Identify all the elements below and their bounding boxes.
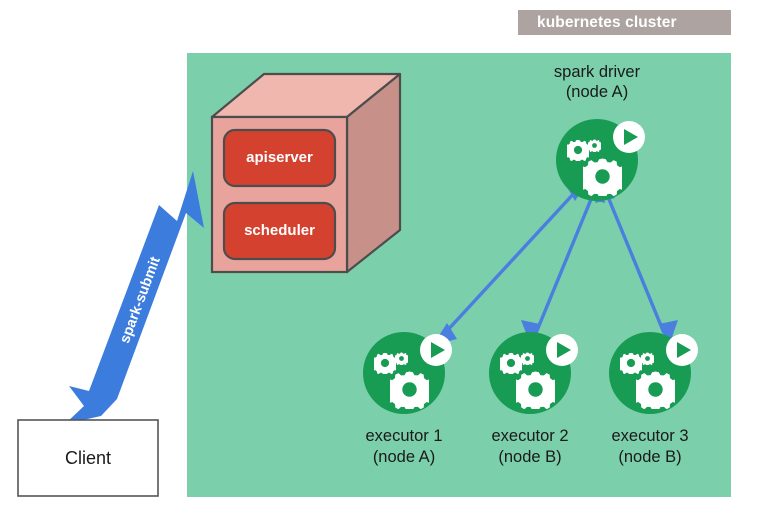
cluster-badge-label: kubernetes cluster — [537, 14, 677, 32]
executor-2-label-line2: (node B) — [460, 448, 600, 467]
diagram-canvas: kubernetes cluster apiserver scheduler s… — [0, 0, 761, 516]
executor-2-label-line1: executor 2 — [460, 427, 600, 446]
apiserver-label: apiserver — [224, 149, 335, 166]
client-label: Client — [18, 448, 158, 469]
executor-1-label-line2: (node A) — [334, 448, 474, 467]
executor-1-label-line1: executor 1 — [334, 427, 474, 446]
executor-3-label-line2: (node B) — [580, 448, 720, 467]
control-plane-cube — [212, 74, 400, 272]
spark-driver-label-line2: (node A) — [517, 83, 677, 102]
executor-3-label-line1: executor 3 — [580, 427, 720, 446]
scheduler-label: scheduler — [224, 222, 335, 239]
spark-driver-label-line1: spark driver — [517, 63, 677, 82]
